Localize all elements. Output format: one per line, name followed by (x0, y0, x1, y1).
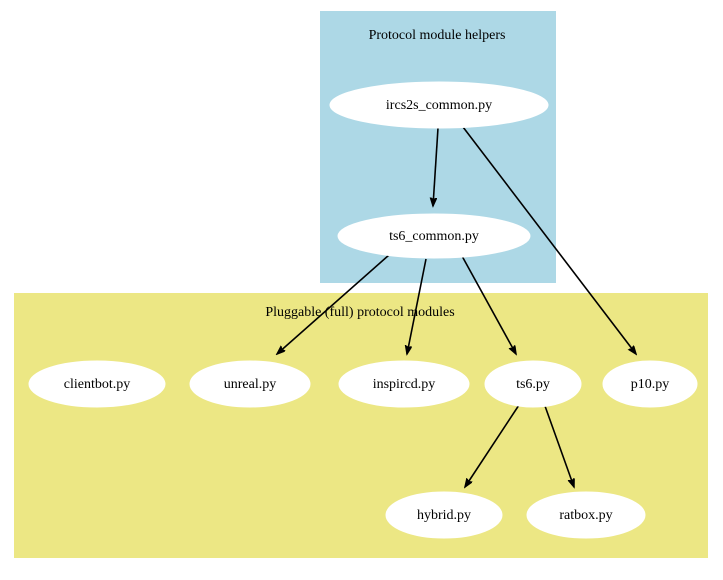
node-ts6[interactable]: ts6.py (485, 361, 581, 407)
node-label: ratbox.py (559, 508, 612, 523)
node-clientbot[interactable]: clientbot.py (29, 361, 165, 407)
node-p10[interactable]: p10.py (603, 361, 697, 407)
node-label: clientbot.py (64, 377, 131, 392)
node-label: unreal.py (224, 377, 276, 392)
node-label: p10.py (631, 377, 670, 392)
node-ts6_common[interactable]: ts6_common.py (338, 214, 530, 258)
node-label: hybrid.py (417, 508, 471, 523)
node-unreal[interactable]: unreal.py (190, 361, 310, 407)
dependency-graph: Protocol module helpersPluggable (full) … (0, 0, 723, 580)
node-ircs2s_common[interactable]: ircs2s_common.py (330, 82, 548, 128)
cluster-title: Pluggable (full) protocol modules (265, 305, 454, 320)
diagram-canvas: Protocol module helpersPluggable (full) … (0, 0, 723, 580)
cluster-title: Protocol module helpers (369, 28, 506, 43)
node-label: ircs2s_common.py (386, 98, 492, 113)
node-inspircd[interactable]: inspircd.py (339, 361, 469, 407)
node-label: ts6.py (516, 377, 550, 392)
node-label: inspircd.py (373, 377, 436, 392)
node-hybrid[interactable]: hybrid.py (386, 492, 502, 538)
node-ratbox[interactable]: ratbox.py (527, 492, 645, 538)
node-label: ts6_common.py (389, 229, 479, 244)
